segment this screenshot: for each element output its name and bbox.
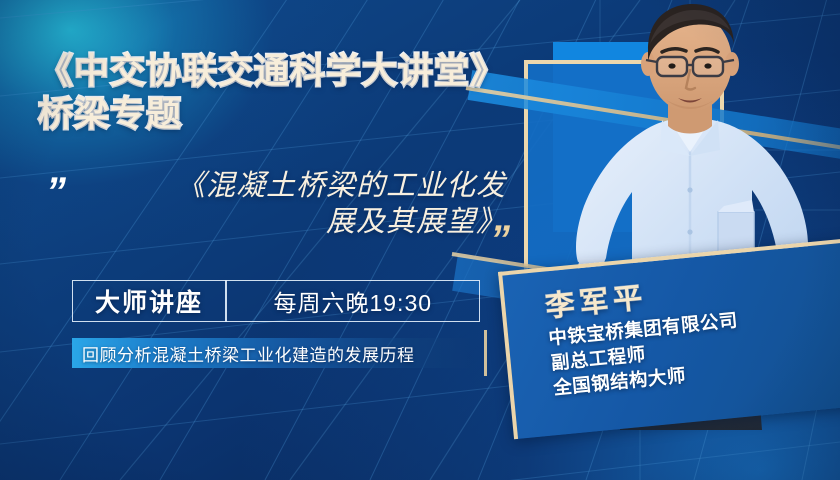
subtitle-line-2: 展及其展望》 xyxy=(86,204,506,240)
title-line-1: 《中交协联交通科学大讲堂》 xyxy=(38,50,558,93)
page-title: 《中交协联交通科学大讲堂》 桥梁专题 xyxy=(38,50,558,136)
lecture-description-bar: 回顾分析混凝土桥梁工业化建造的发展历程 xyxy=(72,338,470,368)
decor-gold-tick xyxy=(484,330,487,376)
lecture-info-box: 大师讲座 每周六晚19:30 xyxy=(72,280,480,322)
speaker-info-panel: 李军平 中铁宝桥集团有限公司 副总工程师 全国钢结构大师 xyxy=(498,237,840,439)
lecture-description-text: 回顾分析混凝土桥梁工业化建造的发展历程 xyxy=(72,341,415,366)
lecture-poster: 《中交协联交通科学大讲堂》 桥梁专题 ” ” 《混凝土桥梁的工业化发 展及其展望… xyxy=(0,0,840,480)
lecture-schedule-label: 每周六晚19:30 xyxy=(227,284,480,318)
subtitle-line-1: 《混凝土桥梁的工业化发 xyxy=(86,168,506,204)
quote-mark-open-icon: ” xyxy=(46,172,63,212)
lecture-subtitle: ” ” 《混凝土桥梁的工业化发 展及其展望》 xyxy=(38,168,528,240)
quote-mark-close-icon: ” xyxy=(490,220,507,260)
title-line-2: 桥梁专题 xyxy=(38,93,558,136)
lecture-type-label: 大师讲座 xyxy=(73,283,225,319)
